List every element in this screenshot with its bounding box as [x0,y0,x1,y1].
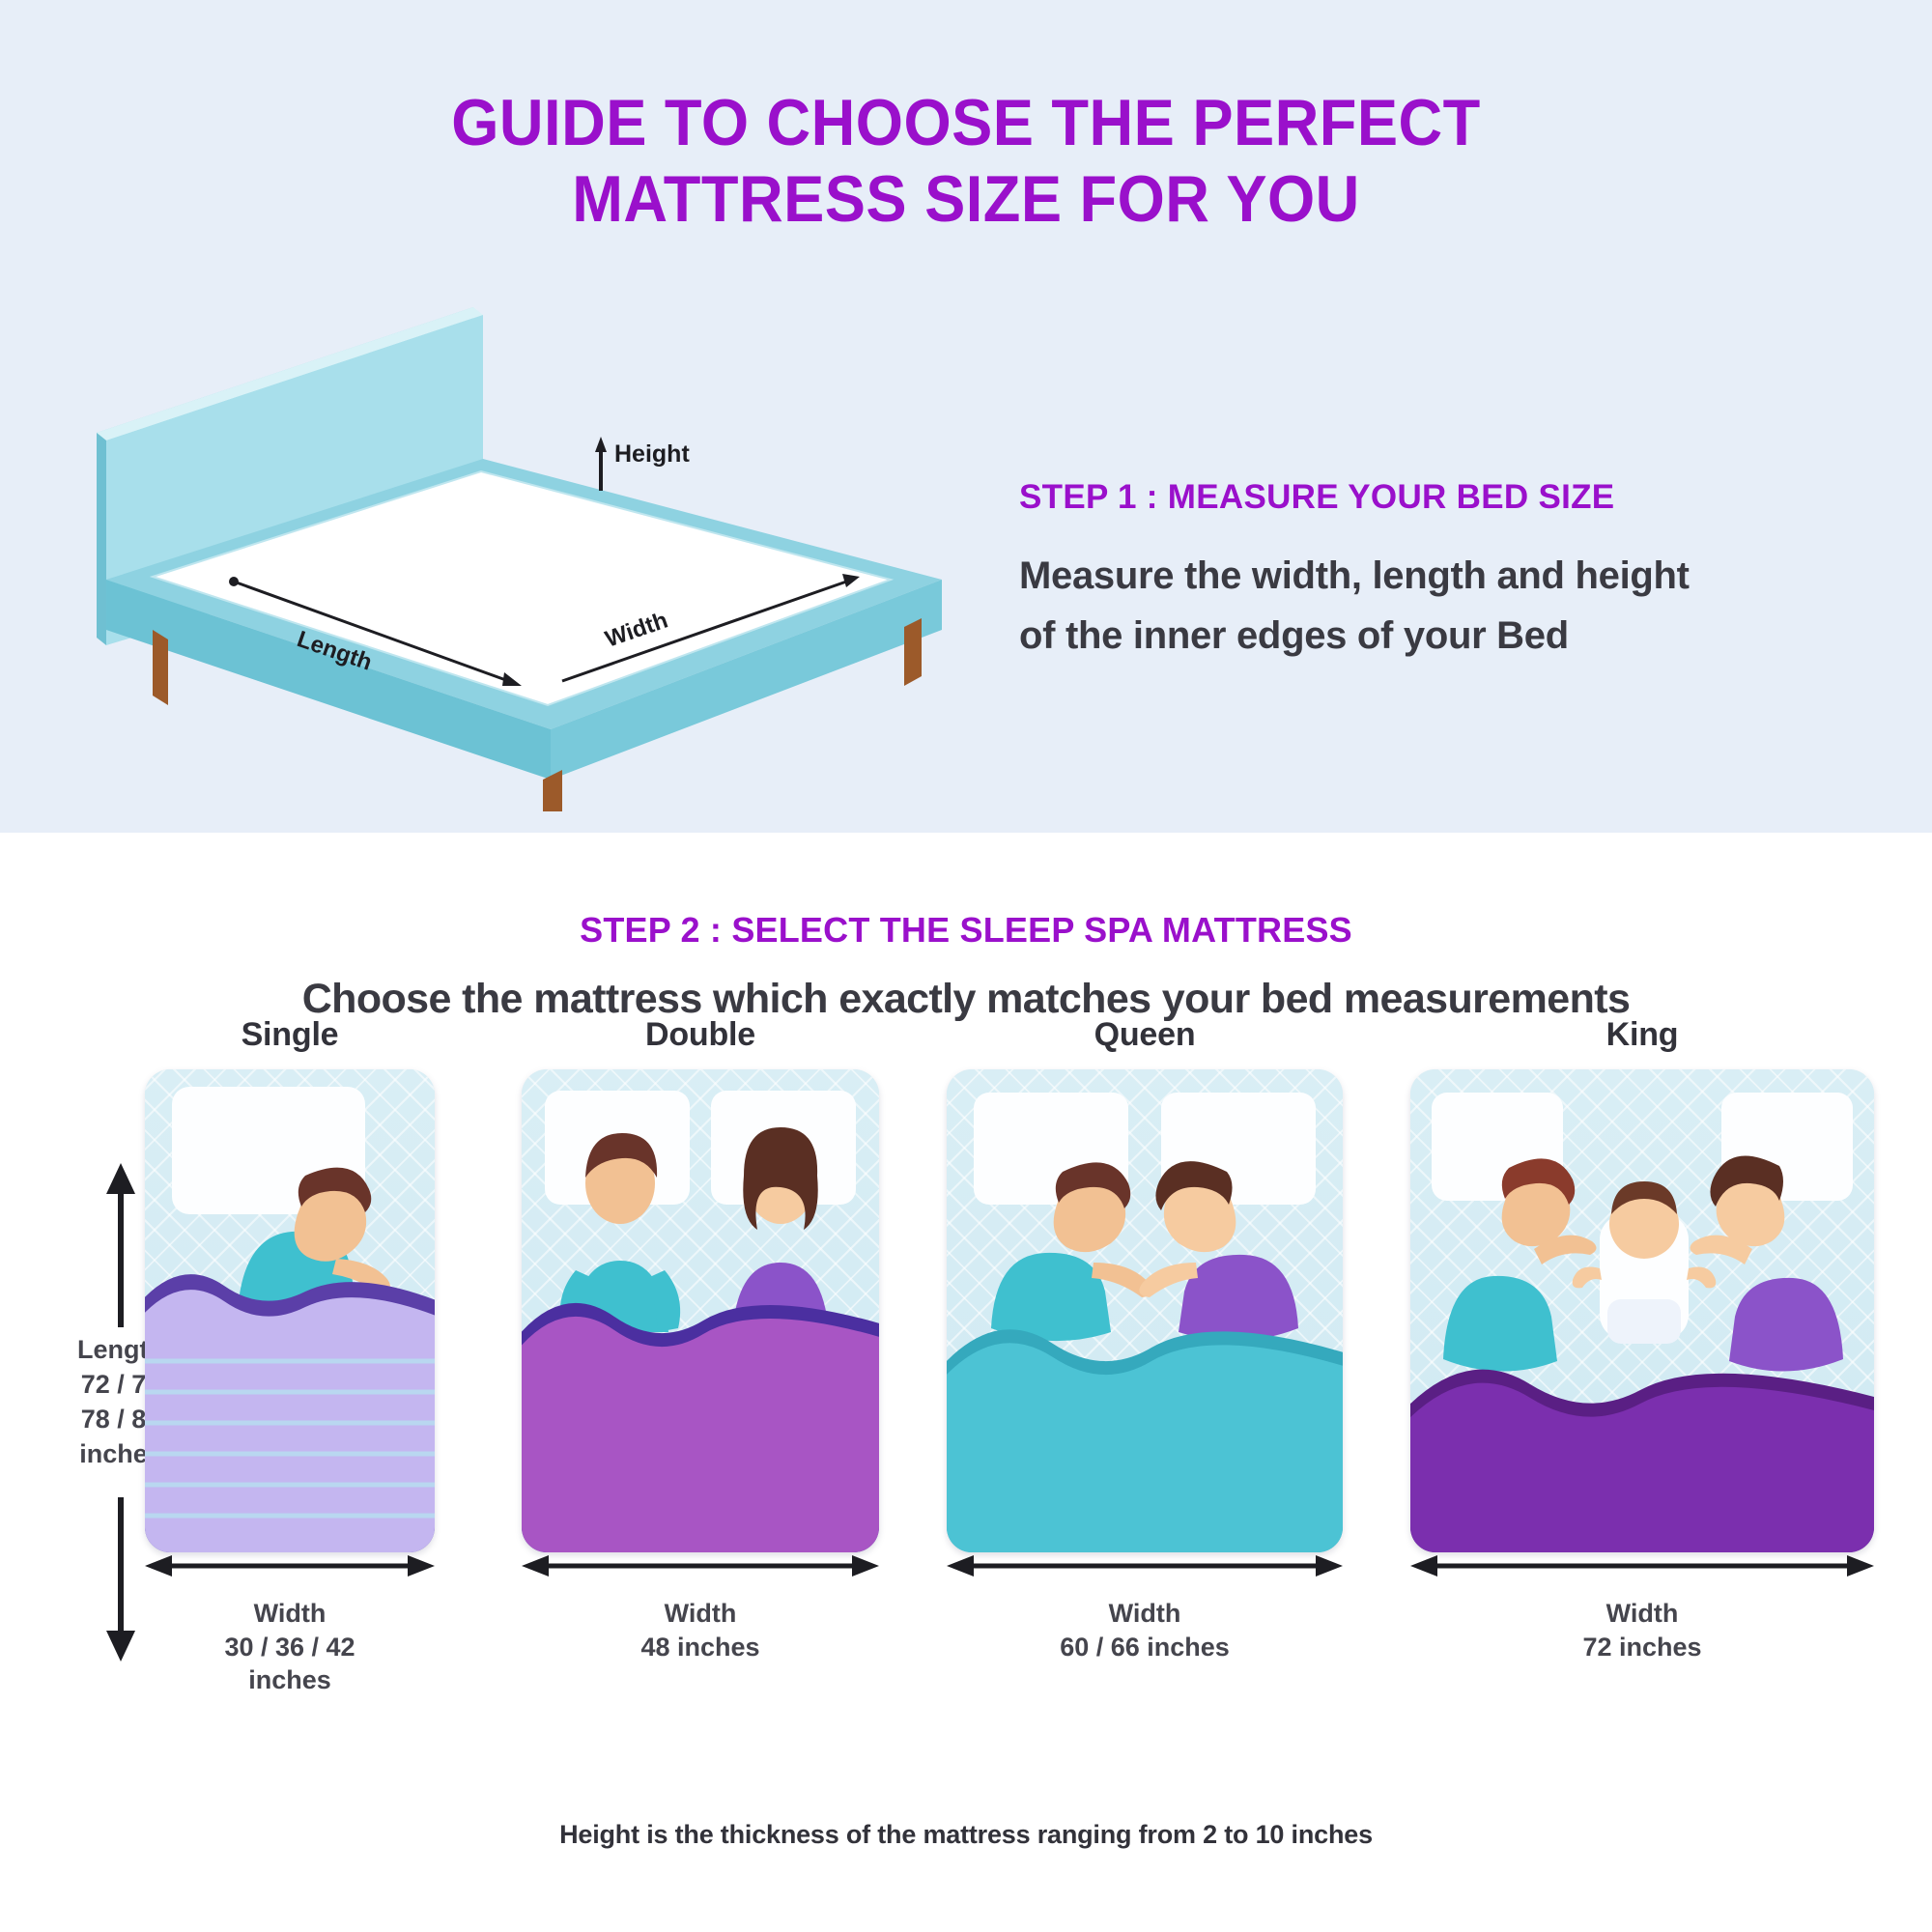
blanket-single [145,1237,435,1552]
width-title-single: Width [145,1597,435,1631]
mattress-card-queen[interactable]: Queen [947,1016,1343,1552]
width-title-king: Width [1410,1597,1874,1631]
width-label-king: Width 72 inches [1410,1597,1874,1663]
mattress-size-row: Single [145,1016,1874,1692]
blanket-shape [145,1237,435,1552]
blanket-body [1410,1383,1874,1552]
step1-panel: GUIDE TO CHOOSE THE PERFECT MATTRESS SIZ… [0,0,1932,833]
mattress-illustration-single [145,1069,435,1552]
mattress-illustration-queen [947,1069,1343,1552]
width-label-double: Width 48 inches [522,1597,879,1663]
width-value-single: 30 / 36 / 42 [145,1631,435,1664]
mattress-size-label-king: King [1410,1016,1874,1054]
mattress-size-label-queen: Queen [947,1016,1343,1054]
blanket-king [1410,1336,1874,1552]
width-unit-single: inches [145,1663,435,1697]
height-label: Height [614,440,690,468]
width-value-double: 48 inches [522,1631,879,1664]
width-block-queen: Width 60 / 66 inches [947,1553,1343,1663]
width-value-queen: 60 / 66 inches [947,1631,1343,1664]
footer-note: Height is the thickness of the mattress … [0,1820,1932,1850]
length-start-dot [229,577,239,586]
page-title-line-2: MATTRESS SIZE FOR YOU [68,161,1864,238]
blanket-shape [947,1297,1343,1552]
mattress-card-king[interactable]: King [1410,1016,1874,1552]
width-arrow-queen [947,1553,1343,1578]
step1-heading: STEP 1 : MEASURE YOUR BED SIZE [1019,478,1889,517]
width-arrow-king [1410,1553,1874,1578]
baby-arm-right [1687,1267,1716,1289]
blanket-body [947,1343,1343,1552]
mattress-illustration-king [1410,1069,1874,1552]
mattress-card-double[interactable]: Double [522,1016,879,1552]
step1-body-line-1: Measure the width, length and height [1019,546,1889,606]
bed-diagram-svg: Height Length Width [68,290,976,811]
mattress-illustration-double [522,1069,879,1552]
width-block-king: Width 72 inches [1410,1553,1874,1663]
width-arrow-single [145,1553,435,1578]
blanket-queen [947,1297,1343,1552]
width-title-double: Width [522,1597,879,1631]
page-title: GUIDE TO CHOOSE THE PERFECT MATTRESS SIZ… [68,85,1864,238]
bed-leg-right [904,618,922,686]
blanket-double [522,1266,879,1552]
width-arrow-double [522,1553,879,1578]
baby-arm-left [1573,1267,1602,1289]
length-axis-up-arrow [106,1163,135,1194]
step2-heading: STEP 2 : SELECT THE SLEEP SPA MATTRESS [0,910,1932,951]
width-label-single: Width 30 / 36 / 42 inches [145,1597,435,1697]
step2-panel: STEP 2 : SELECT THE SLEEP SPA MATTRESS C… [0,833,1932,1932]
step1-body: Measure the width, length and height of … [1019,546,1889,666]
height-arrow-head [595,437,607,452]
step1-text-block: STEP 1 : MEASURE YOUR BED SIZE Measure t… [1019,478,1889,666]
mattress-size-label-single: Single [145,1016,435,1054]
width-value-king: 72 inches [1410,1631,1874,1664]
bed-leg-left [153,630,168,705]
length-axis-down-arrow [106,1631,135,1662]
mattress-size-label-double: Double [522,1016,879,1054]
page-title-line-1: GUIDE TO CHOOSE THE PERFECT [68,85,1864,161]
width-title-queen: Width [947,1597,1343,1631]
blanket-body [522,1317,879,1552]
mattress-card-single[interactable]: Single [145,1016,435,1552]
bed-diagram: Height Length Width [68,290,976,811]
step1-body-line-2: of the inner edges of your Bed [1019,606,1889,666]
bed-headboard-edge [97,433,106,645]
width-label-queen: Width 60 / 66 inches [947,1597,1343,1663]
blanket-shape [522,1266,879,1552]
width-block-single: Width 30 / 36 / 42 inches [145,1553,435,1697]
width-block-double: Width 48 inches [522,1553,879,1663]
blanket-shape [1410,1336,1874,1552]
